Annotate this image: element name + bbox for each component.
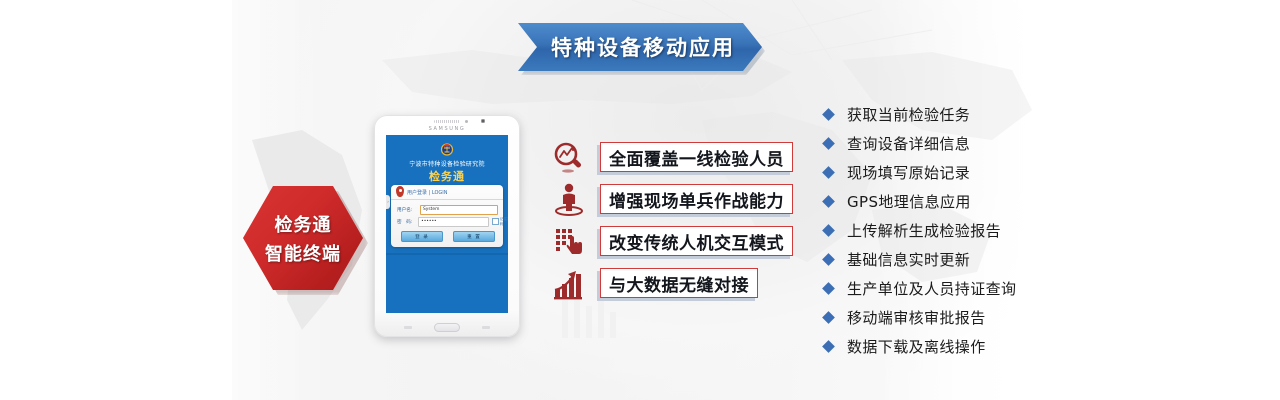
diamond-bullet-icon: [822, 195, 835, 208]
diamond-bullet-icon: [822, 108, 835, 121]
list-item: 上传解析生成检验报告: [824, 216, 1016, 245]
banner-title: 特种设备移动应用: [545, 32, 735, 62]
bullet-text: 上传解析生成检验报告: [847, 220, 1001, 241]
remember-password-label: 记住密码: [500, 217, 508, 227]
feature-item: 与大数据无缝对接: [548, 262, 810, 304]
login-buttons: 登 录 重 置: [401, 231, 495, 242]
list-item: 查询设备详细信息: [824, 129, 1016, 158]
proximity-sensor-icon: [465, 120, 468, 123]
tablet-screen: 宁波市特种设备检验研究院 检务通 用户登录 | LOGIN 用户名: Syste…: [386, 135, 508, 313]
home-button[interactable]: [434, 323, 460, 332]
feature-item: 改变传统人机交互模式: [548, 220, 810, 262]
list-item: 基础信息实时更新: [824, 245, 1016, 274]
username-input[interactable]: System: [420, 205, 498, 215]
title-banner: 特种设备移动应用: [518, 23, 762, 71]
feature-item: 全面覆盖一线检验人员: [548, 136, 810, 178]
diamond-bullet-icon: [822, 340, 835, 353]
login-submit-button[interactable]: 登 录: [401, 231, 443, 242]
front-camera-icon: [481, 119, 485, 123]
feature-label: 全面覆盖一线检验人员: [609, 145, 784, 170]
diamond-bullet-icon: [822, 224, 835, 237]
bar-chart-growth-icon: [548, 264, 590, 302]
checkbox-box-icon: [492, 218, 498, 225]
list-item: 生产单位及人员持证查询: [824, 274, 1016, 303]
login-header-text: 用户登录 | LOGIN: [407, 189, 448, 196]
feature-item: 增强现场单兵作战能力: [548, 178, 810, 220]
tablet-device: SAMSUNG 宁波市特种设备检验研究院 检务通 用户登录 | LOGIN 用户…: [374, 115, 520, 337]
feature-label-box: 改变传统人机交互模式: [600, 226, 793, 256]
feature-label: 改变传统人机交互模式: [609, 229, 784, 254]
remember-password-checkbox[interactable]: 记住密码: [492, 217, 508, 227]
feature-label-box: 全面覆盖一线检验人员: [600, 142, 793, 172]
bullet-text: 获取当前检验任务: [847, 104, 970, 125]
user-pin-icon: [396, 186, 404, 197]
feature-label-box: 与大数据无缝对接: [600, 268, 758, 298]
bullet-text: 数据下载及离线操作: [847, 336, 986, 357]
feature-label: 增强现场单兵作战能力: [609, 187, 784, 212]
bullet-text: 现场填写原始记录: [847, 162, 970, 183]
badge-line-2: 智能终端: [265, 240, 341, 266]
list-item: GPS地理信息应用: [824, 187, 1016, 216]
bullet-text: GPS地理信息应用: [847, 191, 971, 212]
screen-side-tab[interactable]: ›: [386, 195, 390, 209]
feature-list: 全面覆盖一线检验人员 增强现场单兵作战能力: [548, 136, 810, 304]
screen-org-name: 宁波市特种设备检验研究院: [386, 159, 508, 168]
list-item: 移动端审核审批报告: [824, 303, 1016, 332]
hexagon-badge: 检务通 智能终端: [243, 186, 363, 290]
list-item: 现场填写原始记录: [824, 158, 1016, 187]
feature-label: 与大数据无缝对接: [609, 271, 749, 296]
diamond-bullet-icon: [822, 253, 835, 266]
feature-label-box: 增强现场单兵作战能力: [600, 184, 793, 214]
list-item: 数据下载及离线操作: [824, 332, 1016, 361]
person-location-icon: [548, 180, 590, 218]
screen-app-name: 检务通: [386, 168, 508, 184]
bullet-text: 移动端审核审批报告: [847, 307, 986, 328]
diamond-bullet-icon: [822, 282, 835, 295]
username-label: 用户名:: [397, 207, 417, 213]
touch-hand-icon: [548, 222, 590, 260]
bullet-text: 查询设备详细信息: [847, 133, 970, 154]
bullet-text: 基础信息实时更新: [847, 249, 970, 270]
search-chart-icon: [548, 138, 590, 176]
badge-line-1: 检务通: [275, 211, 332, 237]
diamond-bullet-icon: [822, 311, 835, 324]
username-row: 用户名: System: [397, 205, 498, 214]
speaker-grille-icon: [434, 120, 460, 123]
government-emblem-icon: [439, 141, 455, 157]
diamond-bullet-icon: [822, 137, 835, 150]
menu-key-icon[interactable]: [404, 326, 412, 329]
poster-canvas: 特种设备移动应用 检务通 智能终端 SAMSUNG 宁波市特种设备检验研究院 检…: [0, 0, 1280, 400]
screen-divider: [386, 253, 508, 255]
back-key-icon[interactable]: [482, 326, 490, 329]
login-card-header: 用户登录 | LOGIN: [391, 185, 503, 200]
device-brand-label: SAMSUNG: [374, 126, 520, 132]
diamond-bullet-icon: [822, 166, 835, 179]
list-item: 获取当前检验任务: [824, 100, 1016, 129]
bullet-list: 获取当前检验任务 查询设备详细信息 现场填写原始记录 GPS地理信息应用 上传解…: [824, 100, 1016, 361]
password-label: 密 码:: [397, 219, 415, 225]
bullet-text: 生产单位及人员持证查询: [847, 278, 1016, 299]
password-input[interactable]: ••••••: [418, 217, 489, 227]
password-row: 密 码: •••••• 记住密码: [397, 217, 508, 226]
login-card: 用户登录 | LOGIN 用户名: System 密 码: •••••• 记住密…: [391, 185, 503, 247]
login-reset-button[interactable]: 重 置: [453, 231, 495, 242]
